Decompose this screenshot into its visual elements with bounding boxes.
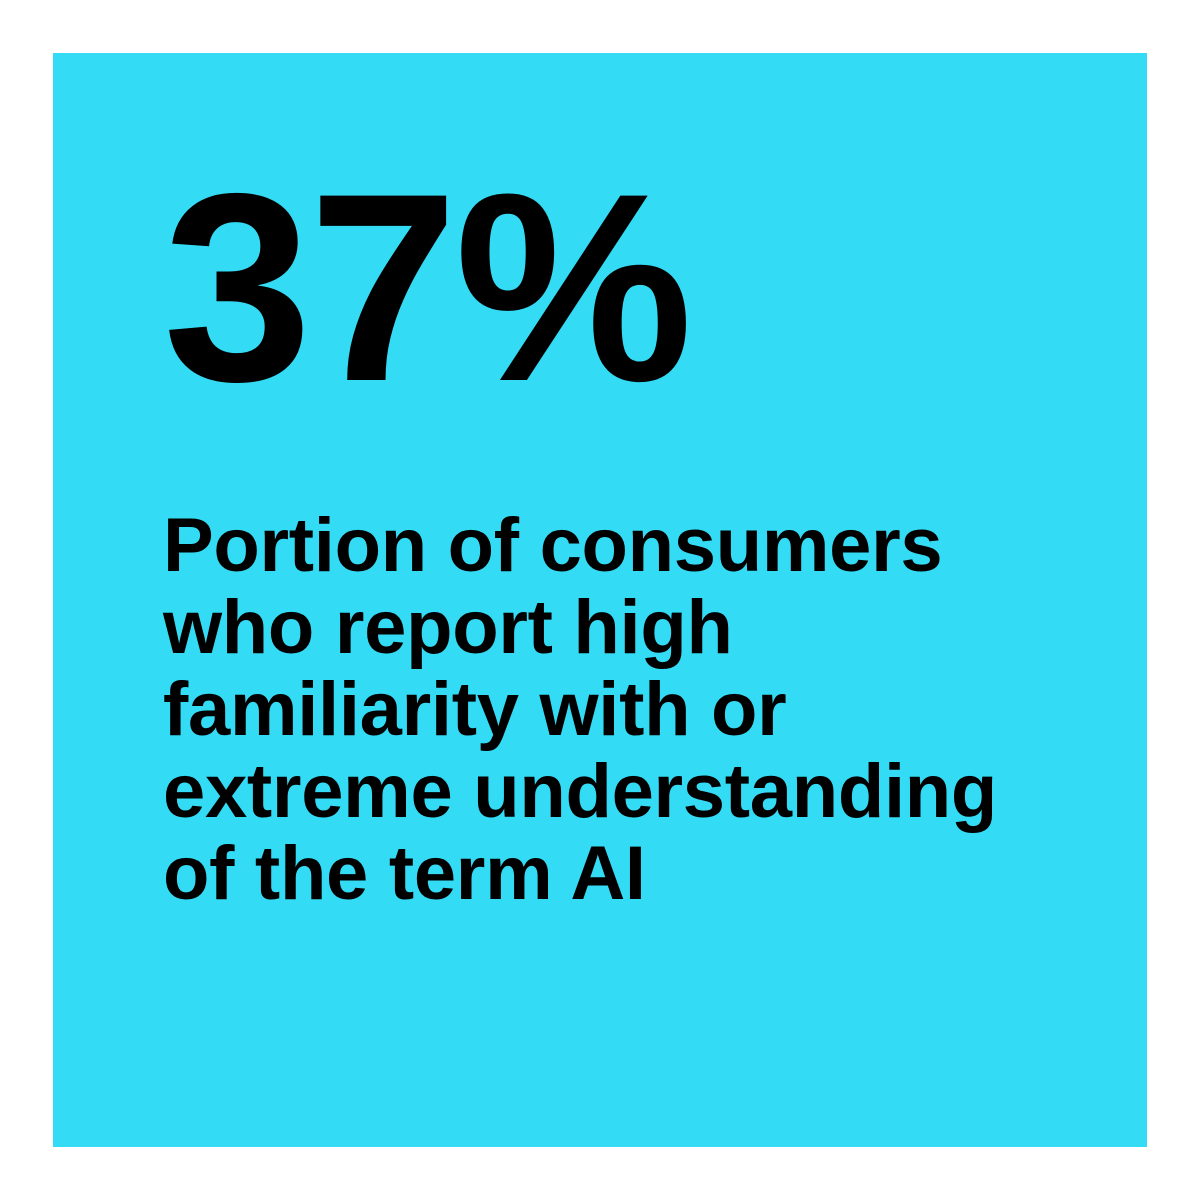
caption-line-3: familiarity with or	[163, 669, 1043, 751]
caption-line-2: who report high	[163, 587, 1043, 669]
stat-value: 37%	[163, 153, 690, 421]
caption-line-4: extreme understanding	[163, 751, 1043, 833]
caption-line-5: of the term AI	[163, 833, 1043, 915]
stat-card: 37% Portion of consumers who report high…	[53, 53, 1147, 1147]
stat-caption: Portion of consumers who report high fam…	[163, 505, 1043, 915]
caption-line-1: Portion of consumers	[163, 505, 1043, 587]
